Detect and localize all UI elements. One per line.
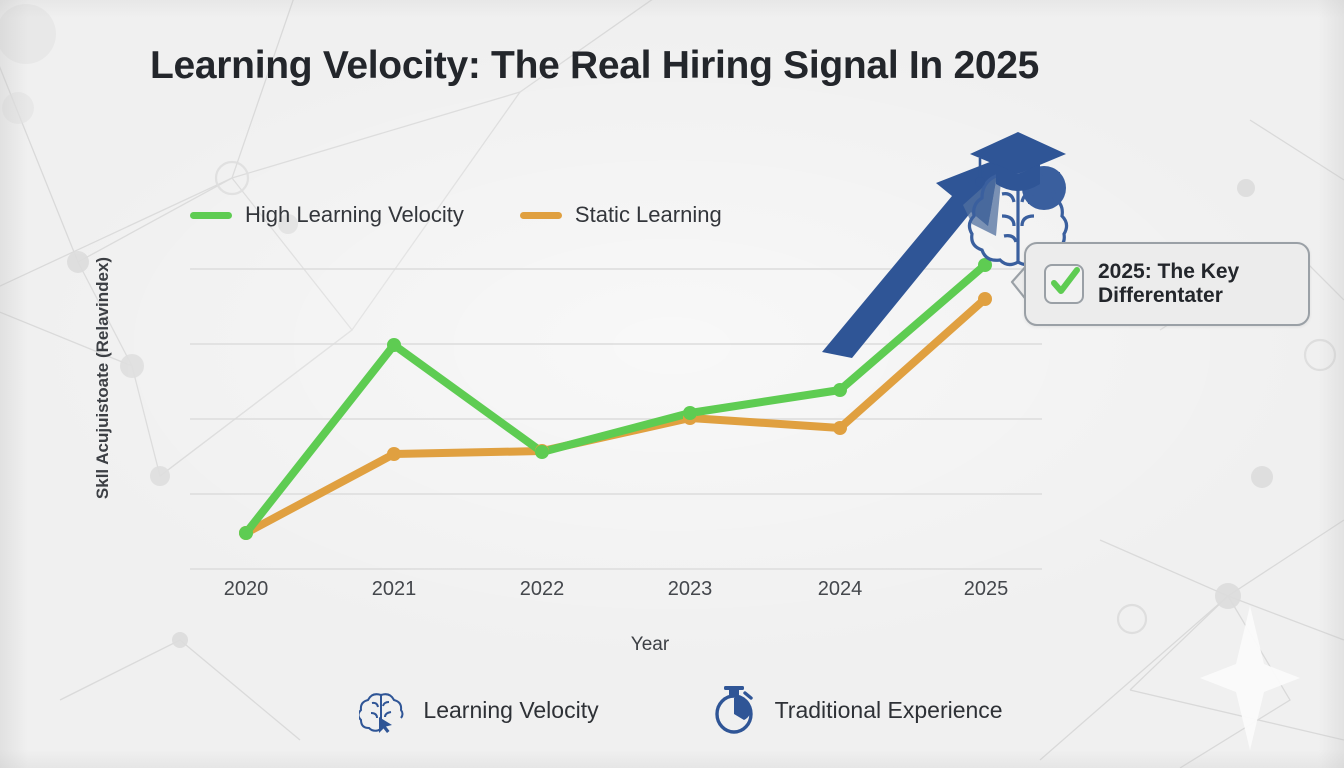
callout-text: 2025: The Key Differentater xyxy=(1098,260,1239,309)
callout-box[interactable]: 2025: The Key Differentater xyxy=(1024,242,1310,326)
legend-label: Static Learning xyxy=(575,202,722,228)
line-swatch-icon xyxy=(190,212,232,219)
x-axis-title: Year xyxy=(0,634,1300,656)
x-tick-2023: 2023 xyxy=(650,578,730,601)
icon-legend-item-traditional-experience[interactable]: Traditional Experience xyxy=(711,686,1003,734)
icon-legend: Learning Velocity Traditional Experience xyxy=(0,686,1344,734)
x-tick-2020: 2020 xyxy=(206,578,286,601)
series-markers xyxy=(239,258,992,540)
icon-legend-item-learning-velocity[interactable]: Learning Velocity xyxy=(359,687,598,733)
icon-legend-label: Traditional Experience xyxy=(775,697,1003,724)
slide-canvas: Learning Velocity: The Real Hiring Signa… xyxy=(0,0,1344,768)
chart-legend: High Learning Velocity Static Learning xyxy=(190,202,722,228)
checkbox-frame xyxy=(1044,264,1084,304)
legend-label: High Learning Velocity xyxy=(245,202,464,228)
brain-cursor-icon xyxy=(359,687,405,733)
line-swatch-icon xyxy=(520,212,562,219)
callout-line-2: Differentater xyxy=(1098,284,1239,308)
legend-item-static-learning[interactable]: Static Learning xyxy=(520,202,722,228)
page-title: Learning Velocity: The Real Hiring Signa… xyxy=(150,44,1210,88)
series-line-high-velocity xyxy=(246,265,985,533)
series-line-static-learning xyxy=(246,299,985,533)
y-axis-title: Skll Acujuistoate (Relavindex) xyxy=(93,213,113,543)
icon-legend-label: Learning Velocity xyxy=(423,697,598,724)
check-mark-icon xyxy=(1047,265,1083,301)
upward-arrow-icon xyxy=(822,158,1002,358)
callout-line-1: 2025: The Key xyxy=(1098,260,1239,284)
x-tick-2022: 2022 xyxy=(502,578,582,601)
x-tick-2024: 2024 xyxy=(800,578,880,601)
x-tick-2021: 2021 xyxy=(354,578,434,601)
x-tick-2025: 2025 xyxy=(946,578,1026,601)
stopwatch-icon xyxy=(711,686,757,734)
legend-item-high-learning-velocity[interactable]: High Learning Velocity xyxy=(190,202,464,228)
